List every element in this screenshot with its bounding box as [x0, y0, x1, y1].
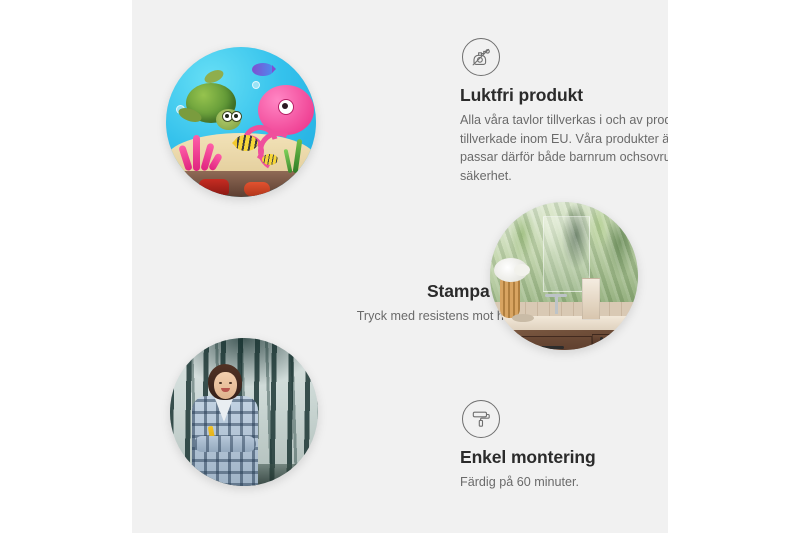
purple-fish	[252, 63, 274, 76]
flower-vase	[500, 276, 520, 318]
feature-title: Luktfri produkt	[460, 85, 668, 106]
underwater-cartoon-photo	[166, 47, 316, 197]
feature-odour-free: Luktfri produkt Alla våra tavlor tillver…	[460, 38, 668, 185]
sea-floor	[166, 171, 316, 197]
faucet	[555, 294, 558, 314]
octopus-eye	[278, 99, 294, 115]
paint-roller-icon	[462, 400, 500, 438]
coral	[178, 131, 222, 171]
vanity-cabinet	[490, 330, 638, 350]
content-panel: Luktfri produkt Alla våra tavlor tillver…	[132, 0, 668, 533]
turtle-eye	[231, 111, 242, 122]
no-perfume-spray-icon	[462, 38, 500, 76]
feature-easy-mounting: Enkel montering Färdig på 60 minuter.	[460, 400, 668, 492]
bathroom-scene	[490, 202, 638, 350]
woman-crossed-arms	[194, 436, 256, 452]
striped-fish	[262, 154, 278, 165]
cabinet-drawer	[500, 336, 592, 350]
woman-face	[214, 372, 237, 399]
soap-dish	[512, 314, 534, 322]
forest-canopy	[170, 338, 318, 386]
bathroom-botanical-photo	[490, 202, 638, 350]
striped-fish	[234, 135, 258, 151]
feature-title: Enkel montering	[460, 447, 668, 468]
underwater-scene	[166, 47, 316, 197]
bubble-icon	[252, 81, 260, 89]
soap-dispenser	[582, 278, 600, 320]
feature-description: Alla våra tavlor tillverkas i och av pro…	[460, 111, 668, 185]
cabinet-door	[592, 334, 632, 346]
woman-with-roller-forest-photo	[170, 338, 318, 486]
white-flowers	[494, 258, 528, 282]
product-features-infographic: Luktfri produkt Alla våra tavlor tillver…	[0, 0, 800, 533]
feature-description: Färdig på 60 minuter.	[460, 473, 668, 492]
forest-mural-scene	[170, 338, 318, 486]
